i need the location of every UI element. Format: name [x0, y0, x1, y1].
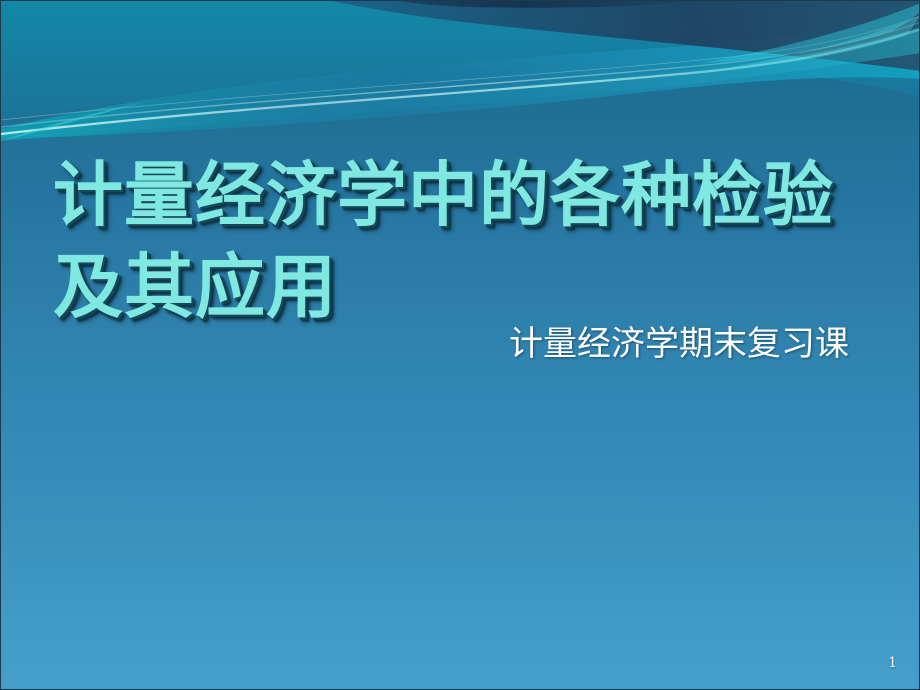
wave-decoration [1, 1, 920, 141]
slide-subtitle: 计量经济学期末复习课 [509, 323, 869, 366]
title-line-1: 计量经济学中的各种检验 [53, 149, 883, 241]
page-number: 1 [888, 655, 897, 671]
title-line-2: 及其应用 [53, 241, 883, 333]
presentation-slide: 计量经济学中的各种检验 及其应用 计量经济学期末复习课 1 [0, 0, 920, 690]
subtitle-line-1: 计量经济学期末复习课 [509, 323, 869, 366]
slide-title: 计量经济学中的各种检验 及其应用 [53, 149, 883, 334]
